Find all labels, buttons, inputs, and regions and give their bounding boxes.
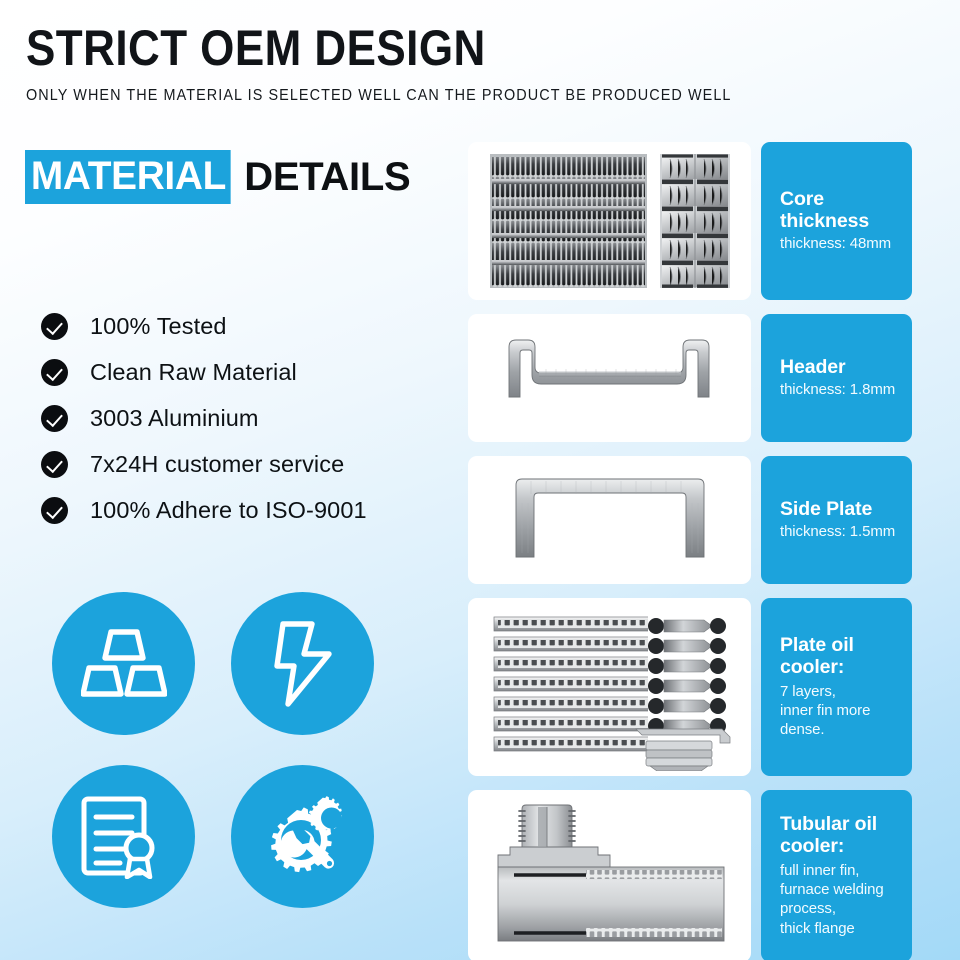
spec-label-card: Side Plate thickness: 1.5mm	[761, 456, 912, 584]
section-heading-plain: DETAILS	[237, 157, 410, 197]
spec-row: Header thickness: 1.8mm	[468, 314, 912, 442]
spec-title: Header	[780, 357, 912, 379]
page-subtitle: ONLY WHEN THE MATERIAL IS SELECTED WELL …	[26, 87, 863, 105]
checklist: 100% Tested Clean Raw Material 3003 Alum…	[41, 303, 461, 533]
checklist-item-label: 100% Tested	[90, 313, 227, 340]
feature-icon-badge-ingots	[52, 592, 195, 735]
check-circle-icon	[41, 359, 68, 386]
spec-photo-card	[468, 598, 751, 776]
check-circle-icon	[41, 451, 68, 478]
checklist-item-label: 7x24H customer service	[90, 451, 344, 478]
spec-label-card: Core thickness thickness: 48mm	[761, 142, 912, 300]
spec-subtitle: thickness: 1.8mm	[780, 381, 912, 399]
spec-photo-card	[468, 456, 751, 584]
list-item: 3003 Aluminium	[41, 395, 461, 441]
checklist-item-label: 100% Adhere to ISO-9001	[90, 497, 367, 524]
feature-icon-grid	[52, 592, 374, 938]
spec-title: Plate oil cooler:	[780, 635, 912, 679]
feature-icon-badge-certificate	[52, 765, 195, 908]
tubular-oil-cooler-photo	[476, 795, 744, 957]
plate-oil-cooler-photo	[476, 603, 744, 771]
spec-row: Side Plate thickness: 1.5mm	[468, 456, 912, 584]
spec-label-card: Header thickness: 1.8mm	[761, 314, 912, 442]
spec-row: Plate oil cooler: 7 layers, inner fin mo…	[468, 598, 912, 776]
side-plate-profile-photo	[476, 461, 744, 579]
spec-photo-card	[468, 142, 751, 300]
spec-subtitle: thickness: 1.5mm	[780, 523, 912, 541]
spec-photo-card	[468, 790, 751, 960]
feature-icon-badge-service	[231, 765, 374, 908]
spec-label-card: Plate oil cooler: 7 layers, inner fin mo…	[761, 598, 912, 776]
spec-subtitle: 7 layers, inner fin more dense.	[780, 682, 912, 740]
list-item: Clean Raw Material	[41, 349, 461, 395]
list-item: 100% Tested	[41, 303, 461, 349]
page-header: STRICT OEM DESIGN ONLY WHEN THE MATERIAL…	[26, 22, 926, 105]
spec-rows: Core thickness thickness: 48mm	[468, 142, 912, 960]
section-heading: MATERIAL DETAILS	[25, 150, 410, 204]
spec-title: Core thickness	[780, 189, 912, 233]
spec-title: Tubular oil cooler:	[780, 814, 912, 858]
section-heading-highlight: MATERIAL	[25, 150, 231, 204]
radiator-core-fins-photo	[474, 146, 746, 296]
spec-row: Core thickness thickness: 48mm	[468, 142, 912, 300]
lightning-bolt-icon	[270, 620, 336, 708]
page-title: STRICT OEM DESIGN	[26, 22, 818, 75]
feature-icon-badge-power	[231, 592, 374, 735]
spec-subtitle: full inner fin, furnace welding process,…	[780, 861, 912, 938]
spec-photo-card	[468, 314, 751, 442]
spec-subtitle: thickness: 48mm	[780, 235, 912, 253]
gears-wrench-icon	[257, 794, 349, 880]
spec-title: Side Plate	[780, 499, 912, 521]
list-item: 7x24H customer service	[41, 441, 461, 487]
aluminium-ingots-icon	[81, 626, 167, 702]
infographic-page: STRICT OEM DESIGN ONLY WHEN THE MATERIAL…	[0, 0, 960, 960]
spec-label-card: Tubular oil cooler: full inner fin, furn…	[761, 790, 912, 960]
header-plate-profile-photo	[476, 319, 744, 437]
check-circle-icon	[41, 497, 68, 524]
check-circle-icon	[41, 405, 68, 432]
checklist-item-label: 3003 Aluminium	[90, 405, 259, 432]
spec-row: Tubular oil cooler: full inner fin, furn…	[468, 790, 912, 960]
certificate-award-icon	[80, 795, 168, 879]
check-circle-icon	[41, 313, 68, 340]
checklist-item-label: Clean Raw Material	[90, 359, 297, 386]
list-item: 100% Adhere to ISO-9001	[41, 487, 461, 533]
